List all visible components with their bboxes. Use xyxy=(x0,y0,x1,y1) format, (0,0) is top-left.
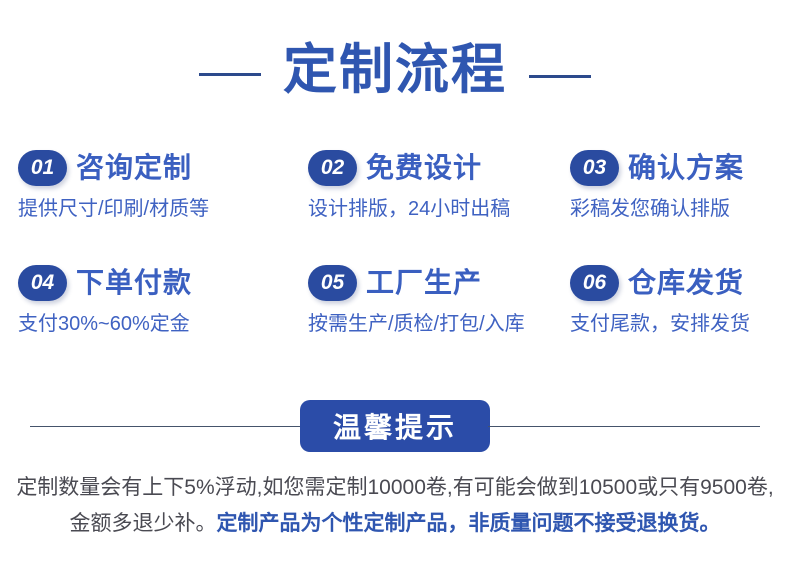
footnote-block: 定制数量会有上下5%浮动,如您需定制10000卷,有可能会做到10500或只有9… xyxy=(0,470,790,542)
step-number-label: 04 xyxy=(18,265,67,301)
step-number-badge: 01 xyxy=(18,150,67,186)
step-header: 05 工厂生产 xyxy=(308,260,562,306)
step-subtitle: 支付尾款，安排发货 xyxy=(570,313,772,335)
step-number-badge: 03 xyxy=(570,150,619,186)
notice-rule-right-decoration xyxy=(488,426,760,427)
step-title: 下单付款 xyxy=(76,269,192,297)
step-title: 确认方案 xyxy=(628,154,744,182)
step-number-label: 06 xyxy=(570,265,619,301)
step-number-badge: 04 xyxy=(18,265,67,301)
step-number-label: 02 xyxy=(308,150,357,186)
step-title: 仓库发货 xyxy=(628,269,744,297)
process-steps-grid: 01 咨询定制 提供尺寸/印刷/材质等 02 免费设计 设计排版，24小时出稿 … xyxy=(18,145,772,375)
notice-rule-left-decoration xyxy=(30,426,302,427)
step-header: 06 仓库发货 xyxy=(570,260,772,306)
page-title: 定制流程 xyxy=(283,43,507,97)
step-subtitle: 按需生产/质检/打包/入库 xyxy=(308,313,562,335)
title-rule-left-decoration xyxy=(199,73,261,76)
step-number-badge: 05 xyxy=(308,265,357,301)
process-step-01: 01 咨询定制 提供尺寸/印刷/材质等 xyxy=(18,145,290,260)
process-step-06: 06 仓库发货 支付尾款，安排发货 xyxy=(562,260,772,375)
process-step-02: 02 免费设计 设计排版，24小时出稿 xyxy=(290,145,562,260)
step-subtitle: 设计排版，24小时出稿 xyxy=(308,198,562,220)
notice-banner-row: 温馨提示 xyxy=(0,400,790,452)
step-number-badge: 06 xyxy=(570,265,619,301)
footnote-line-2-highlight: 定制产品为个性定制产品，非质量问题不接受退换货。 xyxy=(217,512,721,535)
step-number-badge: 02 xyxy=(308,150,357,186)
process-step-03: 03 确认方案 彩稿发您确认排版 xyxy=(562,145,772,260)
step-subtitle: 提供尺寸/印刷/材质等 xyxy=(18,198,290,220)
process-step-05: 05 工厂生产 按需生产/质检/打包/入库 xyxy=(290,260,562,375)
step-header: 04 下单付款 xyxy=(18,260,290,306)
step-number-label: 03 xyxy=(570,150,619,186)
step-title: 咨询定制 xyxy=(76,154,192,182)
notice-badge: 温馨提示 xyxy=(300,400,490,452)
process-step-04: 04 下单付款 支付30%~60%定金 xyxy=(18,260,290,375)
page-title-block: 定制流程 xyxy=(0,34,790,106)
step-header: 03 确认方案 xyxy=(570,145,772,191)
step-title: 工厂生产 xyxy=(366,269,482,297)
footnote-line-1: 定制数量会有上下5%浮动,如您需定制10000卷,有可能会做到10500或只有9… xyxy=(0,470,790,506)
step-number-label: 05 xyxy=(308,265,357,301)
step-header: 01 咨询定制 xyxy=(18,145,290,191)
footnote-line-2-plain: 金额多退少补。 xyxy=(70,512,217,535)
step-number-label: 01 xyxy=(18,150,67,186)
step-subtitle: 支付30%~60%定金 xyxy=(18,313,290,335)
step-header: 02 免费设计 xyxy=(308,145,562,191)
title-rule-right-decoration xyxy=(529,75,591,78)
step-title: 免费设计 xyxy=(366,154,482,182)
footnote-line-2: 金额多退少补。定制产品为个性定制产品，非质量问题不接受退换货。 xyxy=(0,506,790,542)
step-subtitle: 彩稿发您确认排版 xyxy=(570,198,772,220)
